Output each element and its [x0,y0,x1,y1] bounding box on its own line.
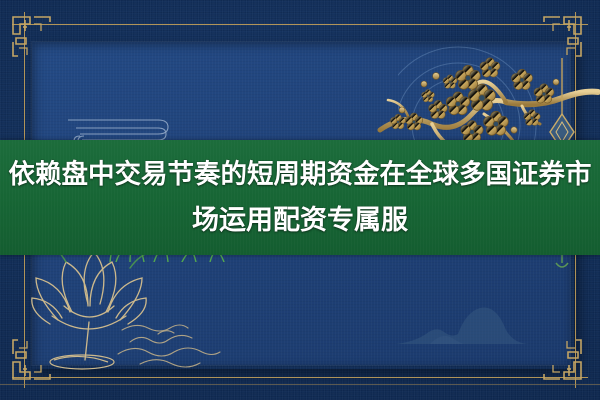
corner-fret-top-left-icon [10,14,56,60]
mountain-silhouette-icon [396,300,576,346]
banner-title-line-1: 依赖盘中交易节奏的短周期资金在全球多国证券市 [9,152,592,198]
poster-canvas: 依赖盘中交易节奏的短周期资金在全球多国证券市 场运用配资专属服 [0,0,600,400]
green-banner: 依赖盘中交易节奏的短周期资金在全球多国证券市 场运用配资专属服 [0,140,600,255]
frame-line-bottom-outer [0,384,600,385]
banner-title-line-2: 场运用配资专属服 [192,198,408,244]
